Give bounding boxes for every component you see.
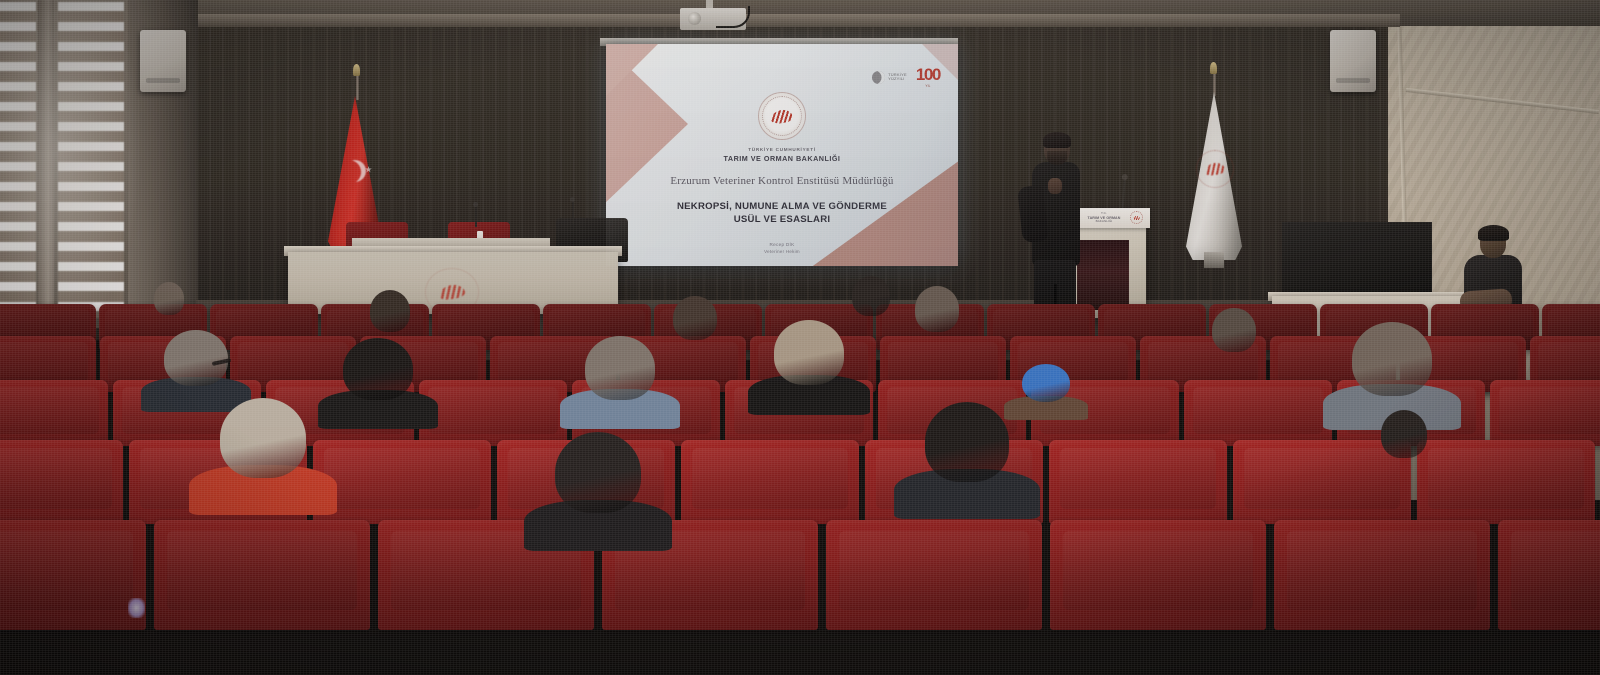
lectern-emblem-icon-right <box>1130 211 1143 224</box>
ministry-flag-base <box>1204 252 1224 268</box>
audience-head <box>915 286 960 332</box>
audience-head <box>673 296 718 340</box>
slide-title-line-1: NEKROPSİ, NUMUNE ALMA VE GÖNDERME <box>677 200 887 214</box>
audience-head <box>1212 308 1255 352</box>
audience-head <box>925 402 1010 482</box>
audience-member <box>908 402 1026 510</box>
projection-screen: TÜRKİYE YÜZYILI 100 YIL TÜRKİYE CUMHURİY… <box>606 44 958 266</box>
presenter-hair <box>1043 132 1071 148</box>
audience-head <box>555 432 641 513</box>
lectern-banner-text: T.C. TARIM VE ORMAN BAKANLIĞI <box>1088 212 1121 224</box>
audience-member <box>203 398 323 506</box>
auditorium-seat <box>0 440 123 524</box>
ministry-flag-emblem-icon <box>1196 150 1234 188</box>
lectern-well <box>1077 240 1129 310</box>
auditorium-seat <box>1417 440 1595 524</box>
window-left-outer <box>0 0 40 328</box>
projector-lens-icon <box>688 12 701 25</box>
ceiling-beam <box>190 14 1400 27</box>
table-microphone-icon <box>572 200 574 224</box>
wall-speaker-right <box>1330 30 1376 92</box>
slide-ministry-line: TARIM VE ORMAN BAKANLIĞI <box>724 154 841 163</box>
auditorium-seat <box>1184 380 1332 446</box>
auditorium-seat <box>681 440 859 524</box>
auditorium-seat <box>1274 520 1490 630</box>
slide-title: NEKROPSİ, NUMUNE ALMA VE GÖNDERME USÜL V… <box>677 200 887 228</box>
auditorium-seat <box>1049 440 1227 524</box>
auditorium-seat <box>1490 380 1600 446</box>
slide-institute-line: Erzurum Veteriner Kontrol Enstitüsü Müdü… <box>670 175 893 187</box>
audience-head <box>852 276 891 316</box>
wall-speaker-left <box>140 30 186 92</box>
audience-member <box>538 432 658 542</box>
wheat-icon <box>438 283 466 301</box>
ministry-flag-pole <box>1213 72 1216 96</box>
audience-member <box>1204 308 1264 354</box>
audience-member <box>664 296 726 342</box>
ministry-flag-finial-icon <box>1210 62 1217 74</box>
audience-member <box>1336 322 1448 422</box>
audience-head <box>343 338 412 400</box>
audience-head <box>370 290 410 332</box>
window-blinds <box>58 2 124 318</box>
wheat-icon <box>1133 216 1140 220</box>
phone-screen-glow <box>128 598 145 618</box>
slide-republic-line: TÜRKİYE CUMHURİYETİ <box>748 147 816 152</box>
window-left-inner <box>54 0 128 328</box>
audience-head <box>154 282 184 315</box>
audience-head <box>1352 322 1433 396</box>
audience-member <box>844 276 898 318</box>
auditorium-seat <box>0 380 108 446</box>
slide-title-line-2: USÜL VE ESASLARI <box>677 213 887 227</box>
window-blinds <box>0 2 36 318</box>
audience-head <box>1381 410 1427 458</box>
wheat-icon <box>1204 161 1226 176</box>
auditorium-seat <box>0 520 146 630</box>
table-microphone-icon <box>475 205 477 227</box>
audience-head <box>585 336 654 400</box>
audience-member <box>1372 410 1436 460</box>
slide-content: TÜRKİYE CUMHURİYETİ TARIM VE ORMAN BAKAN… <box>606 44 958 266</box>
turkish-flag-pole <box>356 74 359 100</box>
auditorium-seat <box>313 440 491 524</box>
auditorium-seat <box>154 520 370 630</box>
audience-head <box>220 398 306 478</box>
audience-member <box>906 286 968 334</box>
audience-head-with-cap <box>1022 364 1071 402</box>
slide-presenter-name: Recep DİK <box>764 242 800 247</box>
audience-member <box>148 282 190 316</box>
presenter-beard <box>1047 151 1067 165</box>
audience-member <box>330 338 426 422</box>
audience-member <box>760 320 858 408</box>
side-attendant-hair <box>1478 225 1509 241</box>
auditorium-seat <box>1498 520 1600 630</box>
auditorium-seat <box>826 520 1042 630</box>
side-display-panel <box>1282 222 1432 300</box>
audience-member <box>362 290 418 334</box>
auditorium-seat <box>1050 520 1266 630</box>
audience-member <box>572 336 668 422</box>
turkish-flag-finial-icon <box>353 64 360 76</box>
presenter-hand <box>1048 178 1062 194</box>
audience-member <box>152 330 240 406</box>
audience-head <box>164 330 227 386</box>
conference-hall-photo: TÜRKİYE YÜZYILI 100 YIL TÜRKİYE CUMHURİY… <box>0 0 1600 675</box>
wheat-icon <box>770 108 794 124</box>
ministry-emblem-icon <box>758 92 806 140</box>
slide-presenter-credit: Recep DİK Veteriner Hekim <box>764 242 800 254</box>
audience-head <box>774 320 845 385</box>
slide-presenter-title: Veteriner Hekim <box>764 249 800 254</box>
lectern-banner-line-3: BAKANLIĞI <box>1088 220 1121 224</box>
